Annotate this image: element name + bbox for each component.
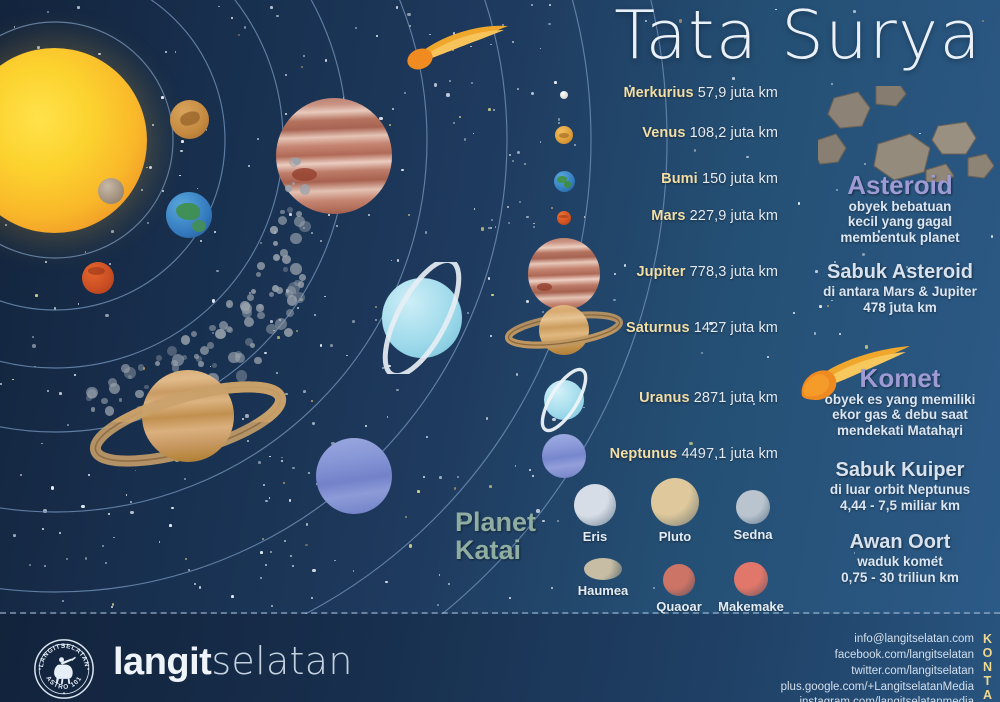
star bbox=[425, 231, 428, 234]
star bbox=[257, 138, 260, 141]
star bbox=[112, 603, 115, 606]
star bbox=[296, 330, 298, 332]
planet-name: Uranus bbox=[639, 390, 690, 406]
star bbox=[248, 165, 251, 168]
planet-label: Venus 108,2 juta km bbox=[642, 125, 778, 141]
asteroid-rock bbox=[245, 338, 253, 346]
star bbox=[29, 564, 31, 566]
star bbox=[81, 505, 85, 509]
contact-link[interactable]: twitter.com/langitselatan bbox=[781, 664, 974, 680]
kontak-letter: O bbox=[980, 646, 996, 660]
star bbox=[453, 122, 455, 124]
star bbox=[45, 261, 48, 264]
dwarf-title-line2: Katai bbox=[455, 536, 536, 564]
komet-desc-line: ekor gas & debu saat bbox=[805, 407, 995, 423]
dwarf-planet-item: Eris bbox=[558, 484, 632, 544]
asteroid-rock bbox=[219, 321, 228, 330]
star bbox=[387, 416, 389, 418]
star bbox=[526, 216, 529, 219]
asteroid-rock bbox=[287, 295, 298, 306]
star bbox=[42, 528, 45, 531]
star bbox=[270, 551, 272, 553]
star bbox=[449, 80, 451, 82]
asteroid-rock bbox=[269, 292, 274, 297]
planet-name: Saturnus bbox=[626, 320, 690, 336]
dwarf-planet-title: Planet Katai bbox=[455, 508, 536, 564]
star bbox=[194, 583, 196, 585]
asteroid-rock bbox=[286, 286, 297, 297]
star bbox=[276, 15, 279, 18]
star bbox=[216, 270, 219, 273]
mars-icon bbox=[557, 211, 571, 225]
star bbox=[263, 484, 265, 486]
awan-oort-desc-line: 0,75 - 30 triliun km bbox=[805, 570, 995, 586]
footer: LANGITSELATAN ASTRO 101 langitselatan i bbox=[0, 614, 1000, 702]
asteroid-rock bbox=[296, 211, 302, 217]
star bbox=[199, 586, 202, 589]
star bbox=[396, 389, 399, 392]
komet-block: Komet obyek es yang memiliki ekor gas & … bbox=[805, 365, 995, 439]
sabuk-asteroid-desc-line: 478 juta km bbox=[805, 300, 995, 316]
star bbox=[289, 499, 292, 502]
dwarf-planet-name: Sedna bbox=[716, 527, 790, 542]
star bbox=[405, 516, 407, 518]
komet-description: obyek es yang memiliki ekor gas & debu s… bbox=[805, 392, 995, 440]
star bbox=[47, 11, 49, 13]
awan-oort-description: waduk komet 0,75 - 30 triliun km bbox=[805, 554, 995, 586]
star bbox=[62, 600, 65, 603]
star bbox=[489, 485, 492, 488]
star bbox=[396, 6, 399, 9]
asteroid-rock bbox=[287, 207, 293, 213]
star bbox=[283, 482, 285, 484]
asteroid-desc-line: obyek bebatuan bbox=[805, 199, 995, 215]
asteroid-rock bbox=[194, 354, 199, 359]
star bbox=[982, 20, 984, 22]
star bbox=[0, 383, 2, 385]
star bbox=[320, 240, 322, 242]
planet-disc bbox=[557, 211, 571, 225]
star bbox=[551, 587, 553, 589]
scene-jupiter-icon bbox=[276, 98, 392, 214]
star bbox=[111, 606, 114, 609]
star bbox=[108, 513, 110, 515]
brand-light: selatan bbox=[211, 639, 352, 683]
sabuk-asteroid-description: di antara Mars & Jupiter 478 juta km bbox=[805, 284, 995, 316]
asteroid-rock bbox=[241, 303, 252, 314]
star bbox=[389, 124, 392, 127]
quaoar-icon bbox=[663, 564, 695, 596]
star bbox=[165, 51, 167, 53]
star bbox=[457, 476, 459, 478]
star bbox=[423, 476, 425, 478]
asteroid-rock bbox=[228, 352, 239, 363]
star bbox=[152, 124, 154, 126]
asteroid-rock bbox=[124, 367, 136, 379]
asteroid-rock bbox=[212, 363, 217, 368]
sabuk-kuiper-desc-line: di luar orbit Neptunus bbox=[805, 482, 995, 498]
makemake-icon bbox=[734, 562, 768, 596]
star bbox=[146, 167, 148, 169]
star bbox=[311, 400, 313, 402]
sabuk-asteroid-block: Sabuk Asteroid di antara Mars & Jupiter … bbox=[805, 262, 995, 316]
asteroid-rock bbox=[156, 355, 162, 361]
asteroid-rock bbox=[257, 312, 264, 319]
star bbox=[98, 53, 101, 56]
star bbox=[471, 82, 473, 84]
star bbox=[306, 523, 309, 526]
star bbox=[536, 509, 540, 513]
mars-surface-marking bbox=[88, 267, 105, 275]
star bbox=[312, 422, 316, 426]
asteroid-rock bbox=[256, 304, 263, 311]
star bbox=[66, 558, 68, 560]
star bbox=[149, 166, 153, 170]
asteroid-heading: Asteroid bbox=[805, 172, 995, 199]
asteroid-rock bbox=[280, 210, 285, 215]
star bbox=[392, 108, 394, 110]
star bbox=[43, 509, 47, 513]
star bbox=[231, 17, 233, 19]
star bbox=[35, 294, 38, 297]
sabuk-asteroid-desc-line: di antara Mars & Jupiter bbox=[805, 284, 995, 300]
asteroid-rock bbox=[235, 353, 246, 364]
asteroid-rock bbox=[240, 301, 250, 311]
asteroid-rock bbox=[209, 325, 216, 332]
star bbox=[88, 474, 90, 476]
kontak-letter: K bbox=[980, 632, 996, 646]
star bbox=[495, 226, 497, 228]
dwarf-planet-name: Eris bbox=[558, 529, 632, 544]
star bbox=[297, 307, 299, 309]
kontak-letter: N bbox=[980, 660, 996, 674]
star bbox=[305, 544, 308, 547]
solar-system-infographic: Tata Surya Merkurius 57,9 juta kmVenus 1… bbox=[0, 0, 1000, 702]
contact-link[interactable]: info@langitselatan.com bbox=[781, 632, 974, 648]
star bbox=[512, 160, 514, 162]
star bbox=[32, 336, 34, 338]
planet-name: Mars bbox=[651, 208, 685, 224]
star bbox=[262, 538, 264, 540]
brand-wordmark: langitselatan bbox=[113, 642, 353, 681]
star bbox=[279, 319, 282, 322]
star bbox=[74, 374, 76, 376]
star bbox=[184, 478, 187, 481]
asteroid-rock bbox=[283, 267, 288, 272]
asteroid-rock bbox=[198, 361, 204, 367]
star bbox=[130, 501, 132, 503]
planet-distance: 4497,1 juta km bbox=[677, 446, 778, 462]
star bbox=[212, 332, 214, 334]
asteroid-rock bbox=[250, 343, 255, 348]
planet-label: Mars 227,9 juta km bbox=[651, 208, 778, 224]
star bbox=[540, 48, 542, 50]
pluto-icon bbox=[651, 478, 699, 526]
star bbox=[113, 537, 115, 539]
asteroid-rock bbox=[244, 317, 254, 327]
star bbox=[439, 574, 441, 576]
kontak-letter: T bbox=[980, 674, 996, 688]
star bbox=[180, 150, 183, 153]
star bbox=[330, 344, 333, 347]
asteroid-rock bbox=[266, 324, 276, 334]
star bbox=[407, 13, 411, 17]
asteroid-rock bbox=[294, 280, 301, 287]
star bbox=[365, 425, 367, 427]
asteroid-description: obyek bebatuan kecil yang gagal membentu… bbox=[805, 199, 995, 247]
star bbox=[515, 465, 517, 467]
star bbox=[286, 289, 290, 293]
star bbox=[143, 367, 146, 370]
asteroid-rock bbox=[215, 329, 226, 340]
star bbox=[486, 417, 489, 420]
asteroid-rock bbox=[294, 292, 305, 303]
star bbox=[77, 6, 80, 9]
asteroid-rock bbox=[227, 327, 233, 333]
star bbox=[437, 604, 439, 606]
asteroid-rock bbox=[251, 289, 256, 294]
asteroid-rock bbox=[207, 342, 215, 350]
earth-continent bbox=[192, 220, 206, 232]
planet-distance: 2871 juta km bbox=[690, 390, 778, 406]
star bbox=[292, 565, 294, 567]
asteroid-rock bbox=[272, 285, 279, 292]
star bbox=[488, 108, 491, 111]
asteroid-rock bbox=[191, 331, 197, 337]
star bbox=[276, 372, 278, 374]
star bbox=[549, 4, 551, 6]
komet-heading: Komet bbox=[805, 365, 995, 392]
star bbox=[408, 214, 410, 216]
star bbox=[85, 557, 88, 560]
star bbox=[490, 227, 492, 229]
star bbox=[271, 605, 274, 608]
star bbox=[285, 113, 287, 115]
asteroid-rock bbox=[290, 233, 302, 245]
asteroid-rock bbox=[128, 375, 132, 379]
asteroid-rock bbox=[121, 364, 130, 373]
asteroid-rock bbox=[282, 255, 291, 264]
star bbox=[59, 392, 62, 395]
langitselatan-logo-icon: LANGITSELATAN ASTRO 101 bbox=[33, 638, 95, 700]
star bbox=[368, 214, 370, 216]
asteroid-rock bbox=[235, 351, 242, 358]
star bbox=[109, 263, 112, 266]
star bbox=[274, 231, 277, 234]
star bbox=[798, 202, 801, 205]
scene-neptune-icon bbox=[316, 438, 392, 514]
star bbox=[260, 242, 262, 244]
star bbox=[78, 303, 80, 305]
sabuk-kuiper-desc-line: 4,44 - 7,5 miliar km bbox=[805, 498, 995, 514]
dwarf-planet-name: Pluto bbox=[638, 529, 712, 544]
star bbox=[334, 560, 336, 562]
dwarf-planet-item: Pluto bbox=[638, 478, 712, 544]
star bbox=[417, 490, 420, 493]
star bbox=[41, 443, 43, 445]
kontak-vertical-label: KONTAK bbox=[980, 632, 996, 702]
sabuk-kuiper-block: Sabuk Kuiper di luar orbit Neptunus 4,44… bbox=[805, 460, 995, 514]
asteroid-rock bbox=[258, 304, 263, 309]
asteroid-rock bbox=[247, 294, 254, 301]
haumea-icon bbox=[584, 558, 622, 580]
star bbox=[159, 541, 161, 543]
star bbox=[105, 314, 109, 318]
contact-link[interactable]: plus.google.com/+LangitselatanMedia bbox=[781, 680, 974, 696]
star bbox=[473, 133, 475, 135]
asteroid-rock bbox=[247, 306, 250, 309]
star bbox=[34, 366, 36, 368]
earth-continent bbox=[176, 203, 200, 220]
contact-link[interactable]: facebook.com/langitselatan bbox=[781, 648, 974, 664]
asteroid-rock bbox=[299, 221, 310, 232]
asteroid-rock bbox=[155, 361, 160, 366]
star bbox=[141, 189, 143, 191]
asteroid-rock bbox=[225, 326, 232, 333]
star bbox=[839, 333, 841, 335]
planet-row: Saturnus 1427 juta km bbox=[530, 290, 798, 370]
asteroid-rock bbox=[167, 346, 177, 356]
komet-desc-line: mendekati Matahari bbox=[805, 423, 995, 439]
star bbox=[336, 225, 338, 227]
star bbox=[509, 597, 511, 599]
star bbox=[102, 545, 105, 548]
star bbox=[130, 511, 134, 515]
contact-list: info@langitselatan.comfacebook.com/langi… bbox=[781, 632, 974, 702]
star bbox=[162, 190, 164, 192]
star bbox=[249, 292, 251, 294]
star bbox=[161, 96, 164, 99]
star bbox=[270, 6, 273, 9]
asteroid-rock bbox=[242, 308, 253, 319]
asteroid-desc-line: kecil yang gagal bbox=[805, 214, 995, 230]
asteroid-rock bbox=[275, 318, 287, 330]
asteroid-rock bbox=[280, 249, 288, 257]
asteroid-rock bbox=[182, 355, 187, 360]
star bbox=[308, 472, 310, 474]
star bbox=[13, 534, 16, 537]
planet-distance: 227,9 juta km bbox=[686, 208, 778, 224]
planet-name: Venus bbox=[642, 125, 685, 141]
star bbox=[509, 154, 511, 156]
star bbox=[270, 320, 273, 323]
dwarf-planet-item: Sedna bbox=[716, 490, 790, 542]
asteroid-rock bbox=[172, 354, 184, 366]
star bbox=[54, 307, 57, 310]
star bbox=[59, 532, 61, 534]
star bbox=[311, 597, 313, 599]
star bbox=[353, 570, 355, 572]
star bbox=[488, 227, 490, 229]
star bbox=[355, 27, 357, 29]
star bbox=[210, 366, 212, 368]
planet-label: Uranus 2871 juta km bbox=[639, 390, 778, 406]
star bbox=[464, 138, 467, 141]
asteroid-rock bbox=[290, 263, 302, 275]
star bbox=[507, 206, 509, 208]
star bbox=[289, 213, 292, 216]
star bbox=[519, 201, 521, 203]
planet-name: Jupiter bbox=[636, 264, 685, 280]
star bbox=[135, 470, 137, 472]
mars-surface-marking bbox=[559, 215, 568, 218]
star bbox=[265, 564, 267, 566]
scene-uranus-rings bbox=[344, 262, 500, 374]
star bbox=[105, 562, 108, 565]
asteroid-rock bbox=[200, 346, 209, 355]
star bbox=[311, 232, 313, 234]
dwarf-planet-item: Haumea bbox=[566, 558, 640, 598]
asteroid-rock bbox=[298, 281, 305, 288]
star bbox=[524, 163, 526, 165]
jupiter-great-red-spot bbox=[292, 168, 317, 181]
star bbox=[481, 227, 485, 231]
star bbox=[260, 551, 263, 554]
sabuk-kuiper-description: di luar orbit Neptunus 4,44 - 7,5 miliar… bbox=[805, 482, 995, 514]
star bbox=[426, 436, 429, 439]
star bbox=[324, 296, 326, 298]
asteroid-rock bbox=[299, 274, 306, 281]
star bbox=[200, 240, 203, 243]
scene-comet-icon bbox=[404, 18, 514, 70]
star bbox=[328, 214, 330, 216]
star bbox=[181, 140, 184, 143]
star bbox=[314, 314, 316, 316]
awan-oort-heading: Awan Oort bbox=[805, 532, 995, 552]
star bbox=[531, 4, 533, 6]
asteroid-rock bbox=[273, 241, 278, 246]
brand-bold: langit bbox=[113, 641, 211, 683]
asteroid-rock bbox=[257, 262, 265, 270]
planet-name: Neptunus bbox=[610, 446, 678, 462]
star bbox=[44, 565, 47, 568]
planet-distance: 1427 juta km bbox=[690, 320, 778, 336]
star bbox=[5, 224, 7, 226]
star bbox=[542, 520, 545, 523]
dwarf-planet-item: Makemake bbox=[714, 562, 788, 614]
star bbox=[401, 169, 404, 172]
star bbox=[284, 540, 287, 543]
star bbox=[493, 109, 495, 111]
logo-sagittarius-figure bbox=[54, 657, 76, 684]
star bbox=[260, 577, 262, 579]
dwarf-title-line1: Planet bbox=[455, 508, 536, 536]
planet-label: Neptunus 4497,1 juta km bbox=[610, 446, 778, 462]
asteroid-rock bbox=[171, 360, 177, 366]
star bbox=[474, 208, 476, 210]
star bbox=[303, 227, 305, 229]
sedna-icon bbox=[736, 490, 770, 524]
star bbox=[185, 558, 188, 561]
star bbox=[32, 344, 36, 348]
star bbox=[273, 330, 275, 332]
neptune-icon bbox=[542, 434, 586, 478]
star bbox=[51, 486, 55, 490]
star bbox=[404, 92, 406, 94]
star bbox=[517, 88, 520, 91]
star bbox=[212, 299, 216, 303]
dwarf-planet-item: Quaoar bbox=[642, 564, 716, 614]
asteroid-rock bbox=[276, 287, 283, 294]
star bbox=[214, 231, 216, 233]
venus-surface-marking bbox=[559, 133, 569, 138]
sun-icon bbox=[0, 48, 147, 233]
contact-link[interactable]: instagram.com/langitselatanmedia bbox=[781, 695, 974, 702]
star bbox=[517, 151, 521, 155]
star bbox=[814, 332, 817, 335]
star bbox=[446, 93, 450, 97]
star bbox=[147, 222, 149, 224]
